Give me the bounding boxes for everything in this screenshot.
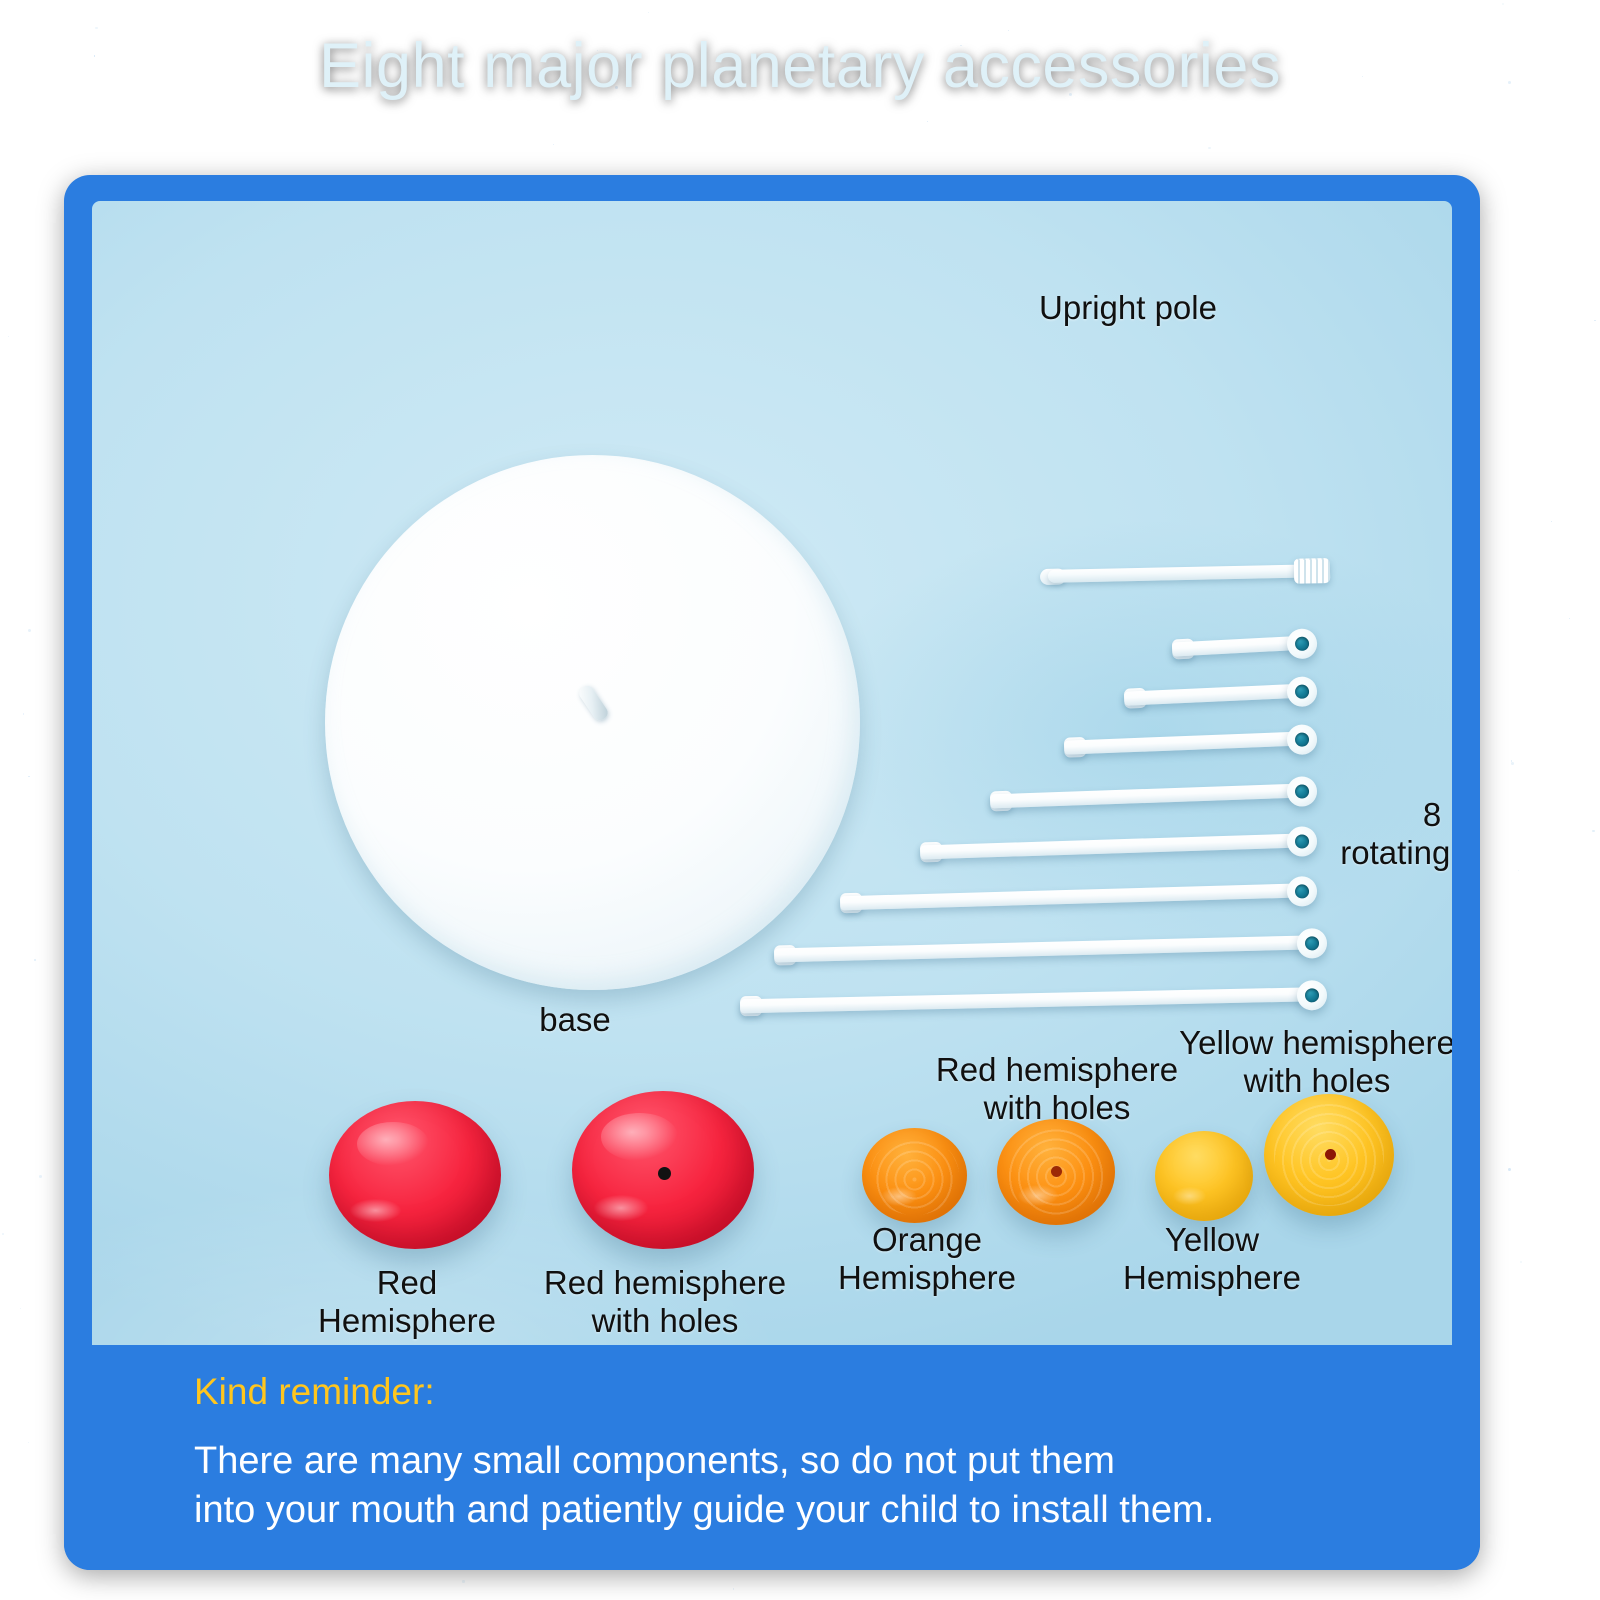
star-speck bbox=[927, 121, 928, 122]
star-speck bbox=[1520, 1261, 1522, 1263]
rotating-rod bbox=[1124, 679, 1318, 710]
reminder-heading: Kind reminder: bbox=[194, 1371, 435, 1413]
star-speck bbox=[1208, 147, 1210, 149]
label-upright-pole: Upright pole bbox=[918, 289, 1338, 327]
rod-hub bbox=[1286, 628, 1318, 660]
center-hole bbox=[658, 1167, 671, 1180]
rod-bar bbox=[990, 784, 1295, 809]
rotating-rod bbox=[740, 983, 1327, 1017]
star-speck bbox=[23, 713, 25, 715]
infographic-stage: Eight major planetary accessories base U… bbox=[0, 0, 1600, 1600]
label-base: base bbox=[425, 1001, 725, 1039]
red-hemisphere bbox=[329, 1101, 501, 1249]
rotating-rod bbox=[774, 931, 1327, 967]
rod-bar bbox=[1124, 684, 1295, 706]
highlight bbox=[601, 1113, 677, 1160]
star-speck bbox=[1518, 870, 1519, 871]
rod-hub bbox=[1287, 876, 1318, 907]
star-speck bbox=[1592, 830, 1594, 832]
star-speck bbox=[2, 1233, 4, 1235]
rotating-rod bbox=[990, 779, 1318, 812]
rod-hub bbox=[1297, 928, 1328, 959]
star-speck bbox=[1594, 320, 1595, 321]
star-speck bbox=[1569, 618, 1570, 619]
yellow-hemisphere bbox=[1155, 1131, 1253, 1221]
label-red-hemisphere-with-holes: Red hemisphere with holes bbox=[500, 1264, 830, 1341]
star-speck bbox=[20, 1308, 21, 1309]
star-speck bbox=[1511, 760, 1513, 762]
ridge-texture bbox=[870, 1136, 958, 1216]
highlight bbox=[881, 1187, 917, 1206]
star-speck bbox=[733, 1588, 734, 1589]
reminder-strip: Kind reminder: There are many small comp… bbox=[64, 1345, 1480, 1570]
rod-bar bbox=[740, 987, 1305, 1013]
star-speck bbox=[553, 144, 554, 145]
rod-hub bbox=[1286, 724, 1317, 755]
rod-bar bbox=[1064, 732, 1295, 755]
label-rotating-rods: 8 rotating rods bbox=[1287, 796, 1452, 873]
star-speck bbox=[39, 1175, 42, 1178]
highlight bbox=[350, 1199, 402, 1223]
star-speck bbox=[95, 27, 98, 30]
star-speck bbox=[462, 1580, 464, 1582]
yellow-hemisphere-with-holes bbox=[1264, 1094, 1394, 1216]
pole-threaded-tip bbox=[1294, 558, 1331, 584]
page-title: Eight major planetary accessories bbox=[0, 30, 1600, 102]
center-hole bbox=[1325, 1149, 1336, 1160]
highlight bbox=[1173, 1187, 1206, 1205]
star-speck bbox=[1551, 521, 1552, 522]
upright-pole bbox=[1040, 555, 1331, 591]
center-hole bbox=[1051, 1166, 1062, 1177]
highlight bbox=[594, 1195, 649, 1220]
label-orange-hemisphere: Orange Hemisphere bbox=[807, 1221, 1047, 1298]
rotating-rod bbox=[1172, 631, 1318, 661]
rotating-rod bbox=[920, 829, 1317, 863]
label-yellow-hemisphere: Yellow Hemisphere bbox=[1092, 1221, 1332, 1298]
star-speck bbox=[34, 959, 36, 961]
rod-hub bbox=[1286, 676, 1317, 707]
red-hemisphere-with-holes bbox=[572, 1091, 754, 1249]
star-speck bbox=[648, 12, 649, 13]
base-disc bbox=[325, 455, 860, 990]
star-speck bbox=[1508, 1168, 1511, 1171]
star-speck bbox=[1502, 3, 1504, 5]
rod-bar bbox=[840, 884, 1295, 911]
rod-bar bbox=[920, 834, 1295, 860]
label-yellow-hemisphere-with-holes: Yellow hemisphere with holes bbox=[1147, 1024, 1452, 1101]
star-speck bbox=[28, 776, 30, 778]
star-speck bbox=[8, 336, 9, 337]
product-photo-panel: base Upright pole bbox=[92, 201, 1452, 1523]
star-speck bbox=[28, 1442, 29, 1443]
orange-hemisphere bbox=[862, 1128, 967, 1223]
product-card: base Upright pole bbox=[64, 175, 1480, 1570]
rod-hub bbox=[1297, 980, 1328, 1011]
rotating-rod bbox=[840, 879, 1317, 914]
rotating-rod bbox=[1064, 727, 1318, 759]
star-speck bbox=[1511, 762, 1514, 765]
highlight bbox=[357, 1122, 429, 1166]
orange-hemisphere-with-holes bbox=[997, 1119, 1115, 1225]
highlight bbox=[1018, 1185, 1058, 1206]
rod-bar bbox=[774, 936, 1305, 963]
reminder-body: There are many small components, so do n… bbox=[194, 1437, 1214, 1534]
pole-shaft bbox=[1048, 564, 1306, 582]
star-speck bbox=[28, 629, 31, 632]
